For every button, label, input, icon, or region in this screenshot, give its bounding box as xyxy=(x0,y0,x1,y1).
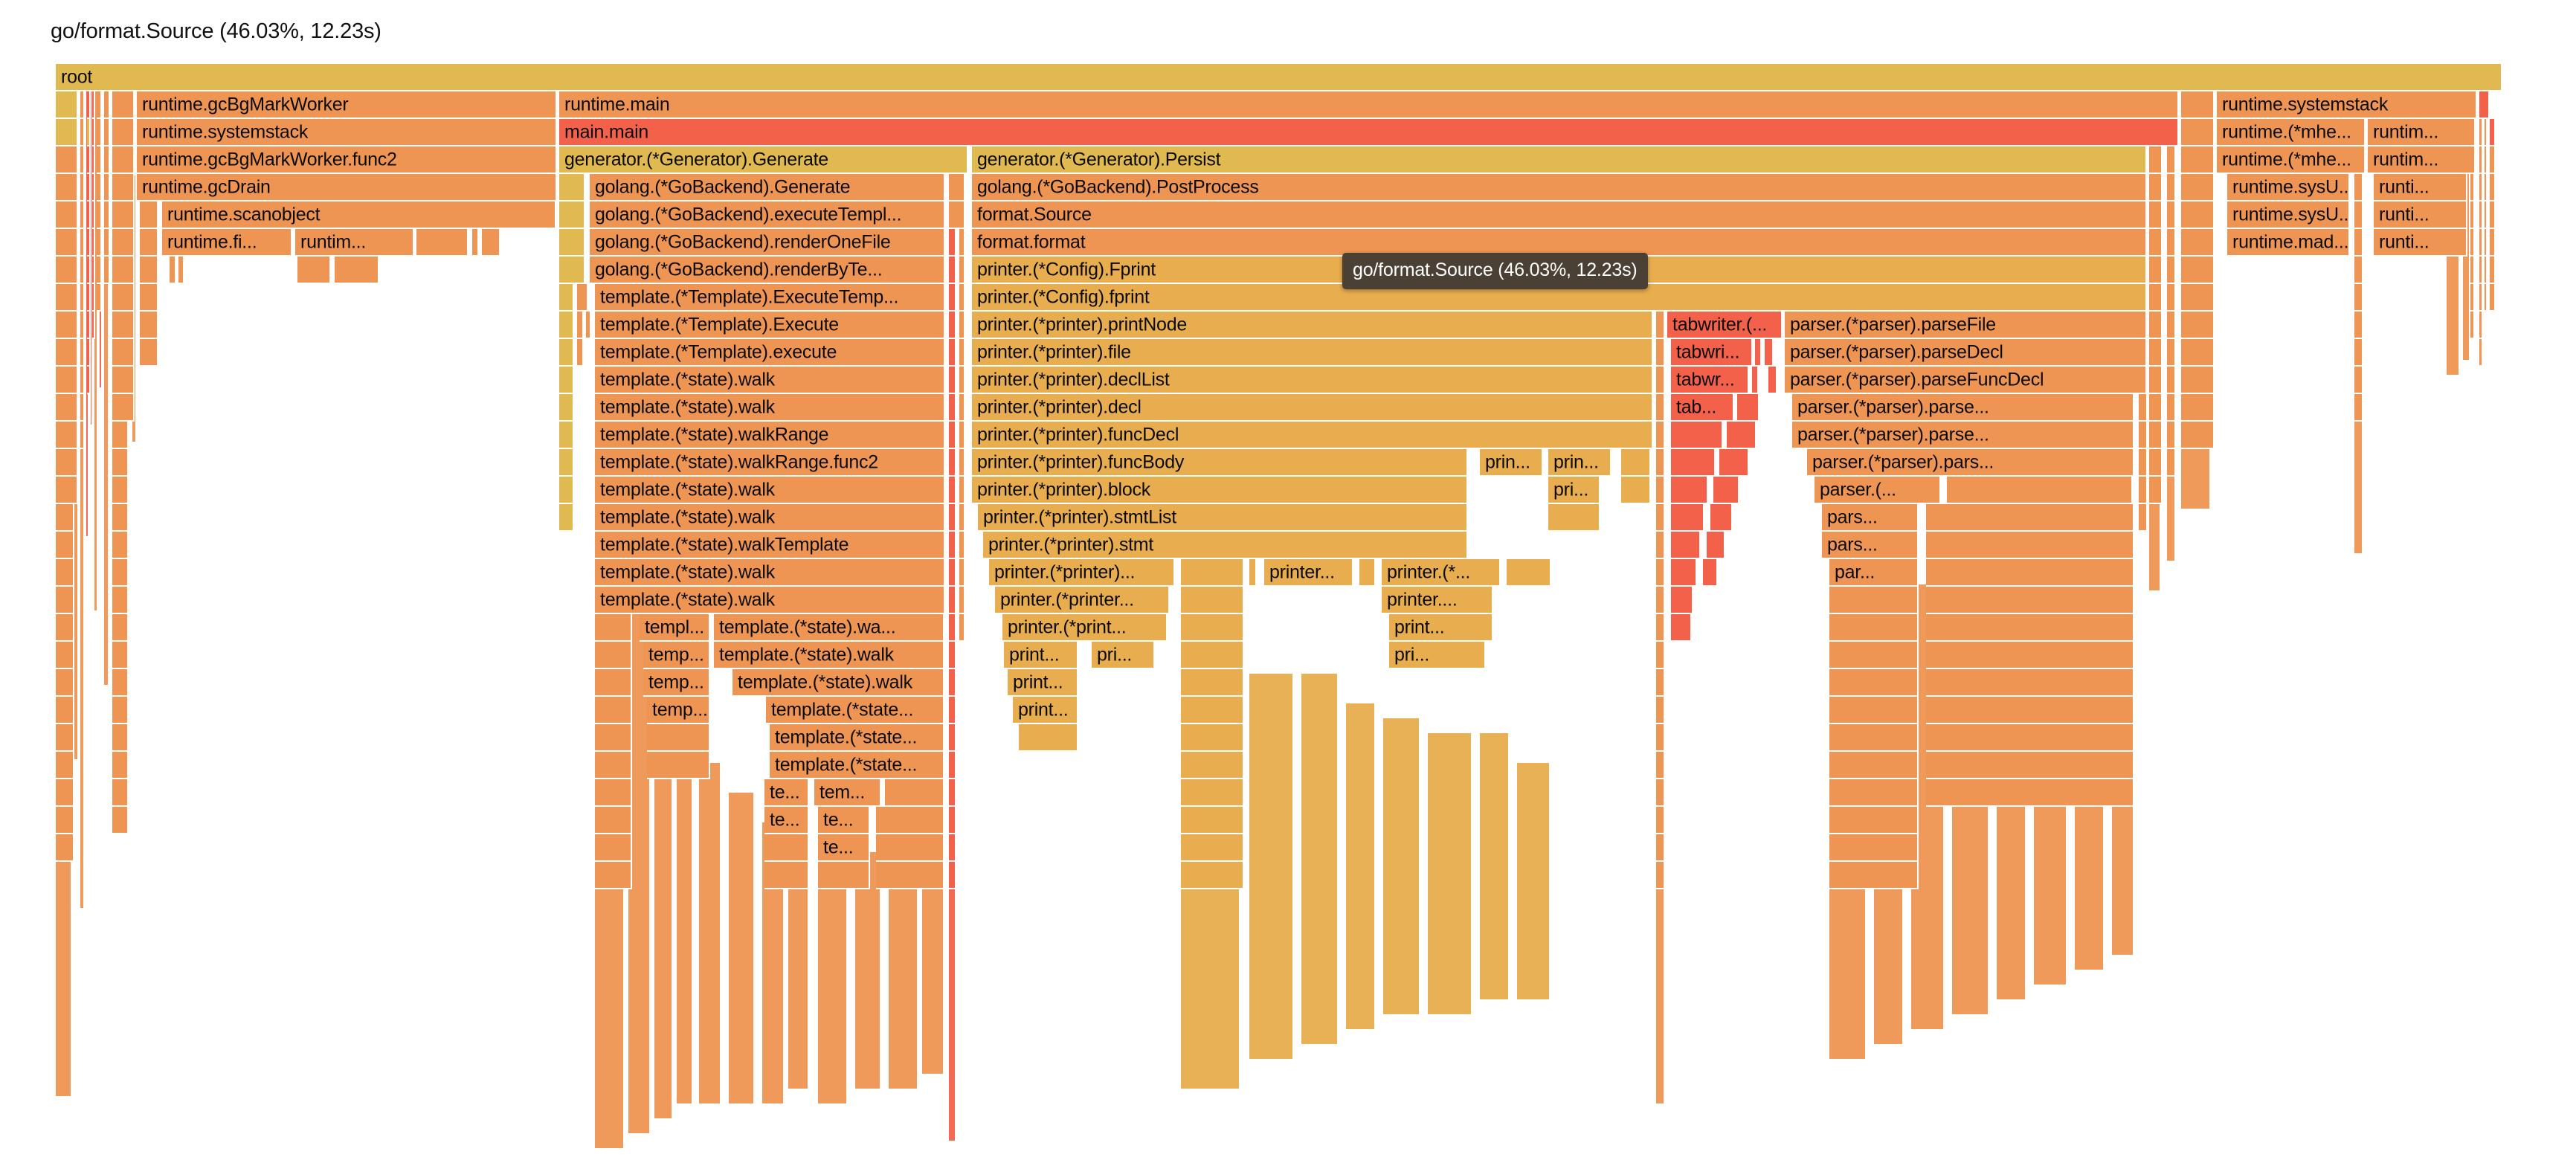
flame-frame-unlabeled[interactable] xyxy=(1710,504,1733,532)
flame-frame[interactable]: te... xyxy=(764,779,809,807)
flame-frame-unlabeled[interactable] xyxy=(2149,284,2163,312)
flame-frame-unlabeled[interactable] xyxy=(1926,642,2134,669)
flame-frame[interactable]: parser.(*parser).parse... xyxy=(1792,394,2134,422)
flame-frame-unlabeled[interactable] xyxy=(595,779,632,807)
flame-frame-unlabeled[interactable] xyxy=(949,862,956,889)
flame-frame-unlabeled[interactable] xyxy=(2149,422,2163,449)
flame-frame-unlabeled[interactable] xyxy=(1926,697,2134,724)
flame-frame[interactable]: te... xyxy=(764,807,809,834)
flame-frame-unlabeled[interactable] xyxy=(2479,174,2483,202)
flame-frame-unlabeled[interactable] xyxy=(56,779,74,807)
flame-frame-unlabeled[interactable] xyxy=(949,504,956,532)
flame-frame[interactable]: printer.(*printer).funcDecl xyxy=(972,422,1653,449)
flame-frame-unlabeled[interactable] xyxy=(2490,202,2496,229)
flame-frame-unlabeled[interactable] xyxy=(87,91,91,119)
flame-frame[interactable]: parser.(*parser).parseDecl xyxy=(1785,339,2147,367)
flame-frame-unlabeled[interactable] xyxy=(1656,312,1665,339)
flame-frame[interactable]: prin... xyxy=(1480,449,1543,477)
flame-frame-unlabeled[interactable] xyxy=(1656,779,1665,807)
flame-frame-unlabeled[interactable] xyxy=(959,532,965,559)
flame-frame-unlabeled[interactable] xyxy=(2485,119,2488,146)
flame-frame-unlabeled[interactable] xyxy=(80,91,85,119)
flame-frame-unlabeled[interactable] xyxy=(2490,146,2496,174)
flame-frame[interactable]: tabwr... xyxy=(1671,367,1749,394)
flame-frame-unlabeled[interactable] xyxy=(1656,834,1665,862)
flame-frame-unlabeled[interactable] xyxy=(104,146,110,174)
flame-frame-unlabeled[interactable] xyxy=(2181,422,2215,449)
flame-frame-unlabeled[interactable] xyxy=(1656,587,1665,614)
flame-frame-unlabeled[interactable] xyxy=(1656,422,1665,449)
flame-frame-noise[interactable] xyxy=(1517,763,1551,1001)
flame-frame-unlabeled[interactable] xyxy=(2479,202,2483,229)
flame-frame-unlabeled[interactable] xyxy=(2167,312,2176,339)
flame-frame-unlabeled[interactable] xyxy=(949,834,956,862)
flame-frame[interactable]: root xyxy=(56,64,2502,91)
flame-frame-unlabeled[interactable] xyxy=(1181,834,1244,862)
flame-frame-unlabeled[interactable] xyxy=(1727,422,1756,449)
flame-frame[interactable]: runti... xyxy=(2374,174,2467,202)
flame-frame-unlabeled[interactable] xyxy=(2485,229,2488,257)
flame-frame[interactable]: runtime.sysU... xyxy=(2227,174,2350,202)
flame-frame-unlabeled[interactable] xyxy=(87,284,91,312)
flame-frame-unlabeled[interactable] xyxy=(2149,367,2163,394)
flame-frame-unlabeled[interactable] xyxy=(112,642,129,669)
flame-frame[interactable]: temp... xyxy=(643,642,710,669)
flame-frame-unlabeled[interactable] xyxy=(112,119,135,146)
flame-frame-unlabeled[interactable] xyxy=(2354,312,2363,339)
flame-frame-unlabeled[interactable] xyxy=(112,174,135,202)
flame-frame[interactable]: temp... xyxy=(647,697,710,724)
flame-frame-unlabeled[interactable] xyxy=(2167,284,2176,312)
flame-frame-unlabeled[interactable] xyxy=(1926,614,2134,642)
flame-frame-unlabeled[interactable] xyxy=(1926,504,2134,532)
flame-frame-unlabeled[interactable] xyxy=(2479,146,2483,174)
flame-frame-noise[interactable] xyxy=(922,867,944,1075)
flame-frame-unlabeled[interactable] xyxy=(595,807,632,834)
flame-frame-unlabeled[interactable] xyxy=(559,174,585,202)
flame-frame-unlabeled[interactable] xyxy=(949,202,965,229)
flame-frame-unlabeled[interactable] xyxy=(959,587,965,614)
flame-frame-unlabeled[interactable] xyxy=(140,257,158,284)
flame-frame-unlabeled[interactable] xyxy=(2167,229,2176,257)
flame-frame-unlabeled[interactable] xyxy=(959,614,965,642)
flame-frame-unlabeled[interactable] xyxy=(104,229,110,257)
flame-frame-unlabeled[interactable] xyxy=(2149,339,2163,367)
flame-frame-unlabeled[interactable] xyxy=(112,669,129,697)
flame-frame-unlabeled[interactable] xyxy=(1713,477,1739,504)
flame-frame-unlabeled[interactable] xyxy=(949,614,956,642)
flame-frame-unlabeled[interactable] xyxy=(2354,339,2363,367)
flame-frame[interactable]: printer... xyxy=(1264,559,1353,587)
flame-frame-unlabeled[interactable] xyxy=(2167,202,2176,229)
flame-frame-unlabeled[interactable] xyxy=(2485,146,2488,174)
flame-frame-unlabeled[interactable] xyxy=(112,312,135,339)
flame-frame[interactable]: printer.... xyxy=(1382,587,1493,614)
flame-frame-unlabeled[interactable] xyxy=(80,312,85,339)
flame-frame[interactable]: prin... xyxy=(1548,449,1611,477)
flame-frame[interactable]: printer.(*printer).block xyxy=(972,477,1468,504)
flame-frame[interactable]: template.(*state).walk xyxy=(595,587,945,614)
flame-frame-unlabeled[interactable] xyxy=(2490,284,2496,312)
flame-frame[interactable]: parser.(... xyxy=(1815,477,1941,504)
flame-frame-unlabeled[interactable] xyxy=(2354,284,2363,312)
flame-frame-unlabeled[interactable] xyxy=(949,669,956,697)
flame-frame-unlabeled[interactable] xyxy=(1656,752,1665,779)
flame-frame[interactable]: te... xyxy=(818,807,870,834)
flame-frame-unlabeled[interactable] xyxy=(595,697,632,724)
flame-frame-unlabeled[interactable] xyxy=(92,146,95,174)
flame-frame-unlabeled[interactable] xyxy=(949,532,956,559)
flame-frame-unlabeled[interactable] xyxy=(56,312,78,339)
flame-frame-unlabeled[interactable] xyxy=(1829,779,1919,807)
flame-frame-unlabeled[interactable] xyxy=(959,477,965,504)
flame-frame-unlabeled[interactable] xyxy=(959,312,965,339)
flame-frame-unlabeled[interactable] xyxy=(1737,394,1759,422)
flame-frame[interactable]: template.(*state).walk xyxy=(714,642,944,669)
flame-frame-unlabeled[interactable] xyxy=(1829,642,1919,669)
flame-frame-unlabeled[interactable] xyxy=(2470,202,2475,229)
flame-frame[interactable]: pars... xyxy=(1822,504,1919,532)
flame-frame-unlabeled[interactable] xyxy=(80,146,85,174)
flame-frame-unlabeled[interactable] xyxy=(56,477,78,504)
flame-frame-unlabeled[interactable] xyxy=(2149,312,2163,339)
flame-frame-unlabeled[interactable] xyxy=(959,284,965,312)
flame-frame-unlabeled[interactable] xyxy=(949,312,956,339)
flame-frame-unlabeled[interactable] xyxy=(92,202,95,229)
flame-frame-unlabeled[interactable] xyxy=(97,119,102,146)
flame-frame-unlabeled[interactable] xyxy=(80,174,85,202)
flame-frame-unlabeled[interactable] xyxy=(87,174,91,202)
flame-frame[interactable]: runtime.(*mhe... xyxy=(2217,146,2366,174)
flame-frame-unlabeled[interactable] xyxy=(1671,504,1704,532)
flame-frame-unlabeled[interactable] xyxy=(595,642,632,669)
flame-frame[interactable]: runtime.gcDrain xyxy=(137,174,557,202)
flame-frame[interactable]: runtime.scanobject xyxy=(162,202,556,229)
flame-frame-unlabeled[interactable] xyxy=(140,229,158,257)
flame-frame[interactable]: golang.(*GoBackend).renderByTe... xyxy=(590,257,945,284)
flame-frame-unlabeled[interactable] xyxy=(1707,532,1725,559)
flame-frame[interactable]: runti... xyxy=(2374,202,2467,229)
flame-frame-unlabeled[interactable] xyxy=(949,449,956,477)
flame-frame-unlabeled[interactable] xyxy=(416,229,468,257)
flame-frame-unlabeled[interactable] xyxy=(56,752,74,779)
flame-frame-unlabeled[interactable] xyxy=(647,724,710,752)
flame-frame-unlabeled[interactable] xyxy=(1181,752,1244,779)
flame-frame-unlabeled[interactable] xyxy=(1656,449,1665,477)
flame-frame-unlabeled[interactable] xyxy=(140,339,158,367)
flame-frame-unlabeled[interactable] xyxy=(1656,394,1665,422)
flame-frame-unlabeled[interactable] xyxy=(92,229,95,257)
flame-frame-unlabeled[interactable] xyxy=(56,146,78,174)
flame-frame-unlabeled[interactable] xyxy=(56,559,74,587)
flame-frame-unlabeled[interactable] xyxy=(112,284,135,312)
flame-frame[interactable]: golang.(*GoBackend).executeTempl... xyxy=(590,202,945,229)
flame-frame[interactable]: template.(*state).walkRange xyxy=(595,422,945,449)
flame-frame-unlabeled[interactable] xyxy=(178,257,184,284)
flame-frame-unlabeled[interactable] xyxy=(1926,724,2134,752)
flame-frame-unlabeled[interactable] xyxy=(959,229,965,257)
flame-frame-unlabeled[interactable] xyxy=(92,257,95,284)
flame-frame-unlabeled[interactable] xyxy=(1656,642,1665,669)
flame-frame-unlabeled[interactable] xyxy=(559,394,574,422)
flame-frame-unlabeled[interactable] xyxy=(559,229,585,257)
flame-frame-unlabeled[interactable] xyxy=(876,807,944,834)
flame-frame-unlabeled[interactable] xyxy=(112,202,135,229)
flame-frame[interactable]: template.(*state).walkTemplate xyxy=(595,532,945,559)
flame-frame-unlabeled[interactable] xyxy=(2149,202,2163,229)
flame-frame-unlabeled[interactable] xyxy=(92,284,95,312)
flame-frame[interactable]: template.(*Template).Execute xyxy=(595,312,945,339)
flame-frame[interactable]: parser.(*parser).parseFile xyxy=(1785,312,2147,339)
flame-frame-unlabeled[interactable] xyxy=(2354,174,2363,202)
flame-frame-unlabeled[interactable] xyxy=(2139,422,2148,449)
flame-frame-unlabeled[interactable] xyxy=(482,229,500,257)
flame-frame-unlabeled[interactable] xyxy=(2181,284,2215,312)
flame-frame-unlabeled[interactable] xyxy=(949,229,956,257)
flame-frame-unlabeled[interactable] xyxy=(949,174,965,202)
flame-frame-unlabeled[interactable] xyxy=(87,119,91,146)
flame-frame[interactable]: generator.(*Generator).Generate xyxy=(559,146,968,174)
flame-frame-unlabeled[interactable] xyxy=(949,257,956,284)
flame-frame-unlabeled[interactable] xyxy=(559,504,574,532)
flame-frame-unlabeled[interactable] xyxy=(1926,587,2134,614)
flame-frame[interactable]: runtime.gcBgMarkWorker.func2 xyxy=(137,146,557,174)
flame-frame[interactable]: print... xyxy=(1008,669,1078,697)
flame-frame-unlabeled[interactable] xyxy=(2479,284,2483,312)
flame-frame-unlabeled[interactable] xyxy=(2354,257,2363,284)
flame-frame[interactable]: template.(*state).walk xyxy=(595,367,945,394)
flame-frame-unlabeled[interactable] xyxy=(97,174,102,202)
flame-frame-unlabeled[interactable] xyxy=(595,834,632,862)
flame-frame-unlabeled[interactable] xyxy=(595,724,632,752)
flame-frame[interactable]: runtim... xyxy=(2368,146,2476,174)
flame-frame[interactable]: runtime.systemstack xyxy=(2217,91,2477,119)
flame-frame-unlabeled[interactable] xyxy=(1181,697,1244,724)
flame-frame-unlabeled[interactable] xyxy=(949,422,956,449)
flame-frame-noise[interactable] xyxy=(1480,733,1510,1001)
flame-frame-unlabeled[interactable] xyxy=(1671,587,1693,614)
flame-frame-unlabeled[interactable] xyxy=(1019,724,1078,752)
flame-frame[interactable]: par... xyxy=(1829,559,1919,587)
flame-frame-unlabeled[interactable] xyxy=(170,257,176,284)
flame-frame-unlabeled[interactable] xyxy=(2490,257,2496,284)
flame-frame-unlabeled[interactable] xyxy=(112,229,135,257)
flame-frame-unlabeled[interactable] xyxy=(1656,614,1665,642)
flame-frame-noise[interactable] xyxy=(654,733,673,1120)
flame-frame[interactable]: golang.(*GoBackend).PostProcess xyxy=(972,174,2147,202)
flame-frame-noise[interactable] xyxy=(889,867,918,1090)
flame-frame-unlabeled[interactable] xyxy=(56,174,78,202)
flame-frame-unlabeled[interactable] xyxy=(2167,394,2176,422)
flame-frame-unlabeled[interactable] xyxy=(56,697,74,724)
flame-frame-unlabeled[interactable] xyxy=(2354,394,2363,422)
flame-frame-unlabeled[interactable] xyxy=(97,91,102,119)
flame-frame[interactable]: runtime.sysU... xyxy=(2227,202,2350,229)
flame-frame-unlabeled[interactable] xyxy=(112,91,135,119)
flame-frame-unlabeled[interactable] xyxy=(1671,477,1708,504)
flame-frame-unlabeled[interactable] xyxy=(2354,367,2363,394)
flame-frame-unlabeled[interactable] xyxy=(112,339,135,367)
flame-frame-unlabeled[interactable] xyxy=(112,422,129,449)
flame-frame[interactable]: template.(*state).walk xyxy=(595,504,945,532)
flame-frame[interactable]: template.(*state... xyxy=(770,724,944,752)
flame-frame-noise[interactable] xyxy=(1383,718,1420,1016)
flame-frame-unlabeled[interactable] xyxy=(2149,174,2163,202)
flame-frame[interactable]: pri... xyxy=(1389,642,1486,669)
flame-frame-unlabeled[interactable] xyxy=(2149,477,2163,504)
flame-frame-unlabeled[interactable] xyxy=(80,422,85,449)
flame-frame-unlabeled[interactable] xyxy=(2181,146,2215,174)
flame-frame[interactable]: printer.(*printer)... xyxy=(989,559,1175,587)
flame-frame-unlabeled[interactable] xyxy=(56,807,74,834)
flame-frame-unlabeled[interactable] xyxy=(56,202,78,229)
flame-frame-unlabeled[interactable] xyxy=(2181,257,2215,284)
flame-frame-unlabeled[interactable] xyxy=(1765,339,1774,367)
flame-frame-unlabeled[interactable] xyxy=(959,394,965,422)
flame-frame-unlabeled[interactable] xyxy=(2181,367,2215,394)
flame-frame-noise[interactable] xyxy=(1428,733,1472,1016)
flame-frame-unlabeled[interactable] xyxy=(595,752,632,779)
flame-frame-unlabeled[interactable] xyxy=(56,422,78,449)
flame-frame-unlabeled[interactable] xyxy=(959,422,965,449)
flame-frame-unlabeled[interactable] xyxy=(1656,559,1665,587)
flame-frame-unlabeled[interactable] xyxy=(2354,202,2363,229)
flame-frame-unlabeled[interactable] xyxy=(1656,367,1665,394)
flame-frame-unlabeled[interactable] xyxy=(1507,559,1551,587)
flame-frame-unlabeled[interactable] xyxy=(97,202,102,229)
flame-frame-unlabeled[interactable] xyxy=(1656,532,1665,559)
flame-frame[interactable]: printer.(*printer... xyxy=(995,587,1170,614)
flame-frame-unlabeled[interactable] xyxy=(559,284,574,312)
flame-frame-unlabeled[interactable] xyxy=(2479,119,2483,146)
flame-frame[interactable]: printer.(*printer).stmt xyxy=(983,532,1468,559)
flame-frame[interactable]: parser.(*parser).pars... xyxy=(1807,449,2134,477)
flame-frame-unlabeled[interactable] xyxy=(112,504,129,532)
flame-frame[interactable]: runtime.mad... xyxy=(2227,229,2350,257)
flame-frame-unlabeled[interactable] xyxy=(2167,367,2176,394)
flame-frame-unlabeled[interactable] xyxy=(1656,477,1665,504)
flame-frame-noise[interactable] xyxy=(677,733,693,1105)
flame-frame-unlabeled[interactable] xyxy=(1829,834,1919,862)
flame-frame-noise[interactable] xyxy=(1249,674,1294,1060)
flame-frame-unlabeled[interactable] xyxy=(577,284,588,312)
flame-frame-unlabeled[interactable] xyxy=(959,339,965,367)
flame-frame-unlabeled[interactable] xyxy=(104,91,110,119)
flame-frame-unlabeled[interactable] xyxy=(92,119,95,146)
flame-frame-unlabeled[interactable] xyxy=(1926,779,2134,807)
flame-frame-unlabeled[interactable] xyxy=(80,119,85,146)
flame-frame-unlabeled[interactable] xyxy=(92,91,95,119)
flame-frame-unlabeled[interactable] xyxy=(959,257,965,284)
flame-frame-noise[interactable] xyxy=(729,793,755,1105)
flame-frame-unlabeled[interactable] xyxy=(647,752,710,779)
flame-frame-unlabeled[interactable] xyxy=(1926,559,2134,587)
flame-frame[interactable]: print... xyxy=(1389,614,1493,642)
flame-frame-unlabeled[interactable] xyxy=(1181,642,1244,669)
flame-frame[interactable]: printer.(*printer).decl xyxy=(972,394,1653,422)
flame-frame-unlabeled[interactable] xyxy=(2139,504,2148,532)
flame-frame-unlabeled[interactable] xyxy=(959,504,965,532)
flame-frame-unlabeled[interactable] xyxy=(56,724,74,752)
flame-frame-unlabeled[interactable] xyxy=(2139,394,2148,422)
flame-frame-unlabeled[interactable] xyxy=(764,834,809,862)
flame-frame-unlabeled[interactable] xyxy=(1829,669,1919,697)
flame-frame[interactable]: tem... xyxy=(814,779,881,807)
flame-frame-unlabeled[interactable] xyxy=(559,339,574,367)
flame-frame-unlabeled[interactable] xyxy=(104,257,110,284)
flame-frame[interactable]: print... xyxy=(1013,697,1078,724)
flame-frame-unlabeled[interactable] xyxy=(1755,339,1762,367)
flame-frame-unlabeled[interactable] xyxy=(112,146,135,174)
flame-frame-unlabeled[interactable] xyxy=(97,229,102,257)
flame-frame-unlabeled[interactable] xyxy=(1829,724,1919,752)
flame-frame-unlabeled[interactable] xyxy=(2167,449,2176,477)
flame-frame-unlabeled[interactable] xyxy=(1671,559,1697,587)
flame-frame-unlabeled[interactable] xyxy=(949,367,956,394)
flame-frame-unlabeled[interactable] xyxy=(1181,587,1244,614)
flame-frame-unlabeled[interactable] xyxy=(112,752,129,779)
flame-frame-unlabeled[interactable] xyxy=(104,174,110,202)
flame-frame-unlabeled[interactable] xyxy=(949,752,956,779)
flame-frame-unlabeled[interactable] xyxy=(87,339,91,367)
flame-frame-unlabeled[interactable] xyxy=(876,862,944,889)
flame-frame-unlabeled[interactable] xyxy=(472,229,479,257)
flame-frame-unlabeled[interactable] xyxy=(2139,449,2148,477)
flame-frame-unlabeled[interactable] xyxy=(1926,532,2134,559)
flame-frame-unlabeled[interactable] xyxy=(559,422,574,449)
flame-frame-unlabeled[interactable] xyxy=(577,339,584,367)
flame-frame-unlabeled[interactable] xyxy=(1249,559,1257,587)
flame-frame-unlabeled[interactable] xyxy=(1829,614,1919,642)
flame-frame[interactable]: template.(*state).walk xyxy=(595,477,945,504)
flame-frame-unlabeled[interactable] xyxy=(1829,752,1919,779)
flame-frame[interactable]: printer.(*printer).declList xyxy=(972,367,1653,394)
flame-frame-unlabeled[interactable] xyxy=(92,312,95,339)
flame-frame-unlabeled[interactable] xyxy=(104,119,110,146)
flame-frame[interactable]: template.(*state... xyxy=(770,752,944,779)
flame-frame-unlabeled[interactable] xyxy=(56,587,74,614)
flame-frame-unlabeled[interactable] xyxy=(97,257,102,284)
flame-frame-unlabeled[interactable] xyxy=(2149,257,2163,284)
flame-frame-unlabeled[interactable] xyxy=(80,284,85,312)
flame-frame-unlabeled[interactable] xyxy=(2167,422,2176,449)
flame-frame-unlabeled[interactable] xyxy=(2470,257,2475,284)
flame-frame[interactable]: golang.(*GoBackend).renderOneFile xyxy=(590,229,945,257)
flame-frame[interactable]: printer.(*print... xyxy=(1002,614,1168,642)
flame-frame-unlabeled[interactable] xyxy=(1181,779,1244,807)
flame-frame[interactable]: parser.(*parser).parse... xyxy=(1792,422,2134,449)
flame-frame-unlabeled[interactable] xyxy=(80,202,85,229)
flame-frame[interactable]: template.(*Template).execute xyxy=(595,339,945,367)
flame-frame-unlabeled[interactable] xyxy=(1671,422,1723,449)
flame-frame-unlabeled[interactable] xyxy=(949,394,956,422)
flame-frame-unlabeled[interactable] xyxy=(2490,229,2496,257)
flame-frame[interactable]: format.Source xyxy=(972,202,2147,229)
flame-frame-unlabeled[interactable] xyxy=(112,532,129,559)
flame-frame-unlabeled[interactable] xyxy=(56,504,74,532)
flame-frame[interactable]: runtime.main xyxy=(559,91,2179,119)
flame-frame-unlabeled[interactable] xyxy=(112,697,129,724)
flame-frame-unlabeled[interactable] xyxy=(586,312,591,339)
flame-frame-unlabeled[interactable] xyxy=(112,367,135,394)
flame-frame-unlabeled[interactable] xyxy=(1181,862,1244,889)
flame-frame-unlabeled[interactable] xyxy=(1703,559,1718,587)
flame-frame[interactable]: template.(*state).wa... xyxy=(714,614,944,642)
flame-frame-unlabeled[interactable] xyxy=(2181,312,2215,339)
flame-frame-unlabeled[interactable] xyxy=(87,312,91,339)
flame-frame-unlabeled[interactable] xyxy=(1656,697,1665,724)
flame-frame-unlabeled[interactable] xyxy=(2479,339,2483,367)
